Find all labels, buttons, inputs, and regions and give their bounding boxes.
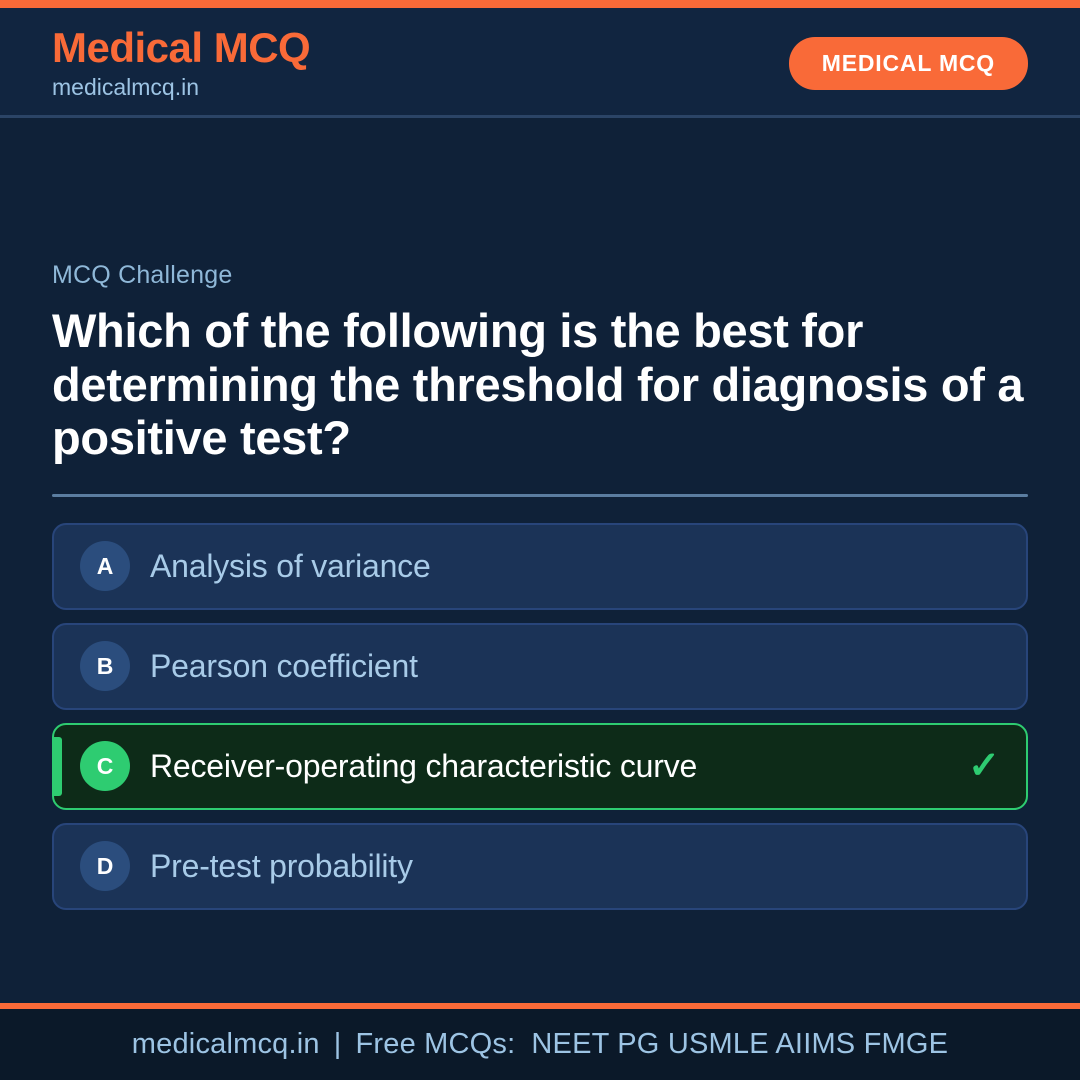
brand-subtitle: medicalmcq.in: [52, 76, 310, 99]
header-badge: MEDICAL MCQ: [789, 37, 1028, 90]
mcq-card: Medical MCQ medicalmcq.in MEDICAL MCQ MC…: [0, 0, 1080, 1080]
options-list: A Analysis of variance ✓ B Pearson coeff…: [52, 523, 1028, 910]
option-label: Pearson coefficient: [150, 648, 418, 685]
main-content: MCQ Challenge Which of the following is …: [0, 118, 1080, 1003]
question-block: MCQ Challenge Which of the following is …: [52, 261, 1028, 910]
option-letter-badge: B: [80, 641, 130, 691]
footer-separator: |: [320, 1028, 356, 1060]
footer-site[interactable]: medicalmcq.in: [132, 1028, 320, 1060]
footer-text: medicalmcq.in|Free MCQs:NEET PG USMLE AI…: [132, 1028, 948, 1061]
check-icon: ✓: [968, 747, 1000, 785]
footer-exams: NEET PG USMLE AIIMS FMGE: [515, 1028, 948, 1060]
option-row-c[interactable]: C Receiver-operating characteristic curv…: [52, 723, 1028, 810]
option-label: Pre-test probability: [150, 848, 413, 885]
eyebrow-label: MCQ Challenge: [52, 261, 1028, 290]
option-row-b[interactable]: B Pearson coefficient ✓: [52, 623, 1028, 710]
option-row-d[interactable]: D Pre-test probability ✓: [52, 823, 1028, 910]
brand: Medical MCQ medicalmcq.in: [52, 27, 310, 99]
page-header: Medical MCQ medicalmcq.in MEDICAL MCQ: [0, 8, 1080, 118]
correct-accent-bar: [54, 737, 62, 796]
question-divider: [52, 494, 1028, 497]
brand-title: Medical MCQ: [52, 27, 310, 69]
option-letter-badge: D: [80, 841, 130, 891]
footer-exams-label: Free MCQs:: [355, 1028, 515, 1060]
option-row-a[interactable]: A Analysis of variance ✓: [52, 523, 1028, 610]
option-letter-badge: C: [80, 741, 130, 791]
top-accent-bar: [0, 0, 1080, 8]
option-label: Receiver-operating characteristic curve: [150, 748, 697, 785]
option-label: Analysis of variance: [150, 548, 431, 585]
question-text: Which of the following is the best for d…: [52, 304, 1028, 465]
option-letter-badge: A: [80, 541, 130, 591]
page-footer: medicalmcq.in|Free MCQs:NEET PG USMLE AI…: [0, 1003, 1080, 1080]
